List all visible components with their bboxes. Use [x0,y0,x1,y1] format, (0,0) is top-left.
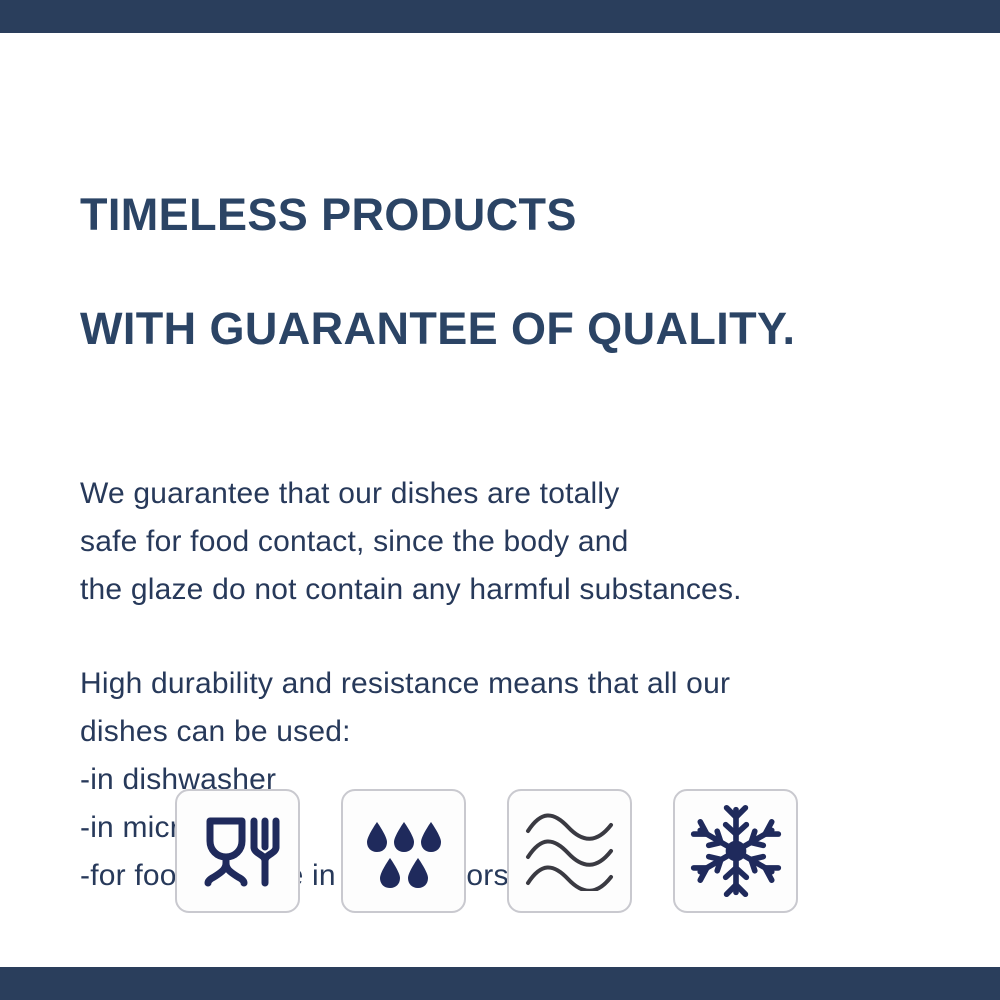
guarantee-paragraph: We guarantee that our dishes are totally… [80,414,950,614]
bottom-accent-bar [0,967,1000,1000]
guarantee-line-3: the glaze do not contain any harmful sub… [80,566,950,614]
microwave-safe-icon-box [507,789,632,913]
page-title-line-1: TIMELESS PRODUCTS [80,186,950,243]
page-title: TIMELESS PRODUCTS WITH GUARANTEE OF QUAL… [80,33,950,414]
snowflake-center-hub [725,841,746,862]
guarantee-line-1: We guarantee that our dishes are totally [80,470,950,518]
product-guarantee-banner: TIMELESS PRODUCTS WITH GUARANTEE OF QUAL… [0,0,1000,1000]
content-area: TIMELESS PRODUCTS WITH GUARANTEE OF QUAL… [80,33,950,900]
freezer-safe-icon-box [673,789,798,913]
guarantee-line-2: safe for food contact, since the body an… [80,518,950,566]
durability-line-1: High durability and resistance means tha… [80,660,950,708]
page-title-line-2: WITH GUARANTEE OF QUALITY. [80,300,950,357]
certification-icon-row [175,789,798,913]
food-safe-icon [194,807,282,895]
freezer-safe-icon [689,804,783,898]
durability-line-2: dishes can be used: [80,708,950,756]
food-safe-icon-box [175,789,300,913]
dishwasher-safe-icon-box [341,789,466,913]
dishwasher-safe-icon [361,808,447,894]
microwave-safe-icon [523,811,617,891]
top-accent-bar [0,0,1000,33]
